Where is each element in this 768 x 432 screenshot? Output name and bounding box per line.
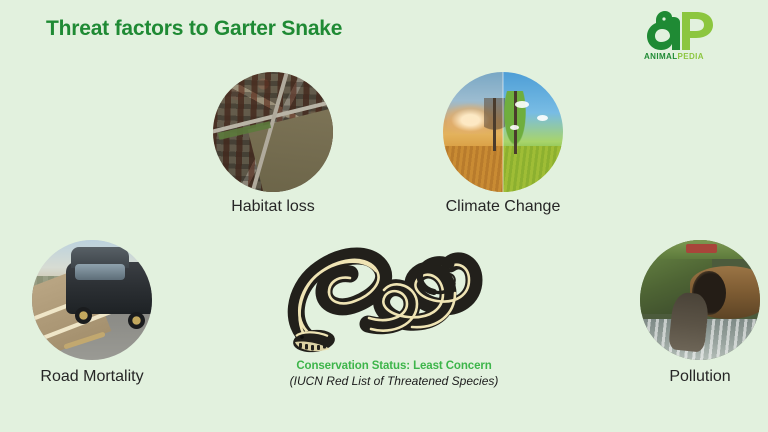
threat-image-climate-change	[443, 72, 563, 192]
highway-truck-photo	[32, 240, 152, 360]
drain-pipe-photo	[640, 240, 760, 360]
pickup-truck	[66, 262, 152, 315]
threat-image-habitat-loss	[213, 72, 333, 192]
truck-wheel	[128, 312, 145, 329]
garter-snake-illustration	[272, 228, 504, 360]
threat-label-road-mortality: Road Mortality	[22, 368, 162, 386]
logo-wordmark: ANIMALPEDIA	[644, 52, 704, 61]
animalpedia-logo: ANIMALPEDIA	[642, 8, 718, 68]
threat-label-pollution: Pollution	[630, 368, 768, 386]
threat-image-road-mortality	[32, 240, 152, 360]
pollution-red-structure	[686, 244, 717, 254]
conservation-status-block: Conservation Status: Least Concern (IUCN…	[234, 360, 554, 388]
climate-cloud	[515, 101, 529, 108]
logo-word-animal: ANIMAL	[644, 52, 678, 61]
conservation-source-text: (IUCN Red List of Threatened Species)	[234, 374, 554, 388]
conservation-status-text: Conservation Status: Least Concern	[234, 360, 554, 372]
logo-word-pedia: PEDIA	[678, 52, 704, 61]
threat-label-climate-change: Climate Change	[443, 198, 563, 216]
threat-image-pollution	[640, 240, 760, 360]
climate-cloud	[510, 125, 519, 130]
page-title: Threat factors to Garter Snake	[46, 17, 342, 41]
aerial-suburb-photo	[213, 72, 333, 192]
logo-monogram-icon	[642, 8, 718, 52]
truck-wheel	[75, 307, 92, 324]
threat-label-habitat-loss: Habitat loss	[213, 198, 333, 216]
climate-cloud	[537, 115, 548, 121]
climate-split-photo	[443, 72, 563, 192]
climate-split-seam	[502, 72, 504, 192]
climate-dry-ground	[443, 146, 503, 192]
